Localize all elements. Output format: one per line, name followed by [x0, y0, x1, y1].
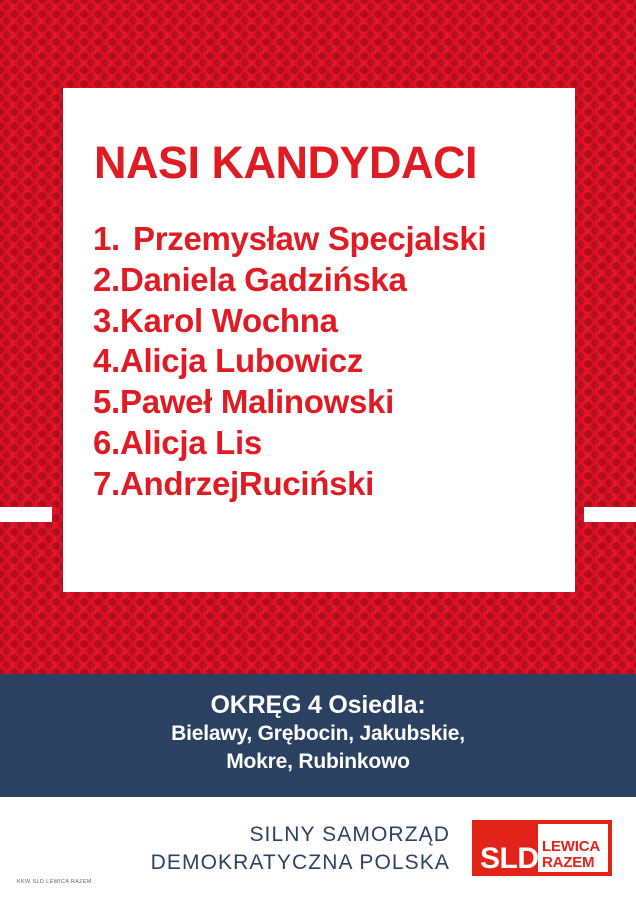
district-neighbourhoods-line-2: Mokre, Rubinkowo [0, 748, 636, 776]
sld-logo-subtitle-line-1: LEWICA [542, 839, 600, 854]
sld-logo-box: LEWICA RAZEM [538, 824, 608, 872]
candidate-number: 4. [93, 341, 120, 382]
candidate-number: 3. [93, 301, 120, 342]
sld-logo-subtitle: LEWICA RAZEM [542, 839, 600, 870]
candidates-card: NASI KANDYDACI 1. Przemysław Specjalski … [63, 88, 575, 592]
list-item: 3. Karol Wochna [93, 301, 575, 342]
candidate-name: Karol Wochna [120, 301, 338, 342]
candidate-number: 2. [93, 260, 120, 301]
district-band: OKRĘG 4 Osiedla: Bielawy, Grębocin, Jaku… [0, 674, 636, 797]
sld-logo-mark: SLD [480, 844, 539, 874]
list-item: 2. Daniela Gadzińska [93, 260, 575, 301]
list-item: 1. Przemysław Specjalski [93, 219, 575, 260]
list-item: 6. Alicja Lis [93, 423, 575, 464]
list-item: 4. Alicja Lubowicz [93, 341, 575, 382]
left-white-notch [0, 507, 52, 522]
sld-logo-subtitle-line-2: RAZEM [542, 855, 600, 870]
campaign-poster: NASI KANDYDACI 1. Przemysław Specjalski … [0, 0, 636, 900]
list-item: 5. Paweł Malinowski [93, 382, 575, 423]
candidate-name: Paweł Malinowski [120, 382, 394, 423]
candidate-number: 6. [93, 423, 120, 464]
candidate-name: Alicja Lis [120, 423, 262, 464]
candidate-list: 1. Przemysław Specjalski 2. Daniela Gadz… [63, 185, 575, 504]
right-white-notch [584, 507, 636, 522]
sld-logo: SLD LEWICA RAZEM [472, 820, 612, 876]
candidate-name: Przemysław Specjalski [133, 219, 486, 260]
candidate-number: 5. [93, 382, 120, 423]
slogan-line-2: DEMOKRATYCZNA POLSKA [150, 849, 450, 877]
committee-disclaimer: KKW SLD LEWICA RAZEM [17, 879, 92, 885]
list-item: 7. AndrzejRuciński [93, 464, 575, 505]
candidate-name: AndrzejRuciński [120, 464, 374, 505]
slogan: SILNY SAMORZĄD DEMOKRATYCZNA POLSKA [150, 821, 450, 877]
slogan-line-1: SILNY SAMORZĄD [150, 821, 450, 849]
candidate-name: Alicja Lubowicz [120, 341, 363, 382]
district-title: OKRĘG 4 Osiedla: [0, 674, 636, 720]
district-neighbourhoods-line-1: Bielawy, Grębocin, Jakubskie, [0, 720, 636, 748]
candidate-number: 1. [93, 219, 133, 260]
candidate-number: 7. [93, 464, 120, 505]
candidate-name: Daniela Gadzińska [120, 260, 407, 301]
page-title: NASI KANDYDACI [63, 88, 575, 185]
